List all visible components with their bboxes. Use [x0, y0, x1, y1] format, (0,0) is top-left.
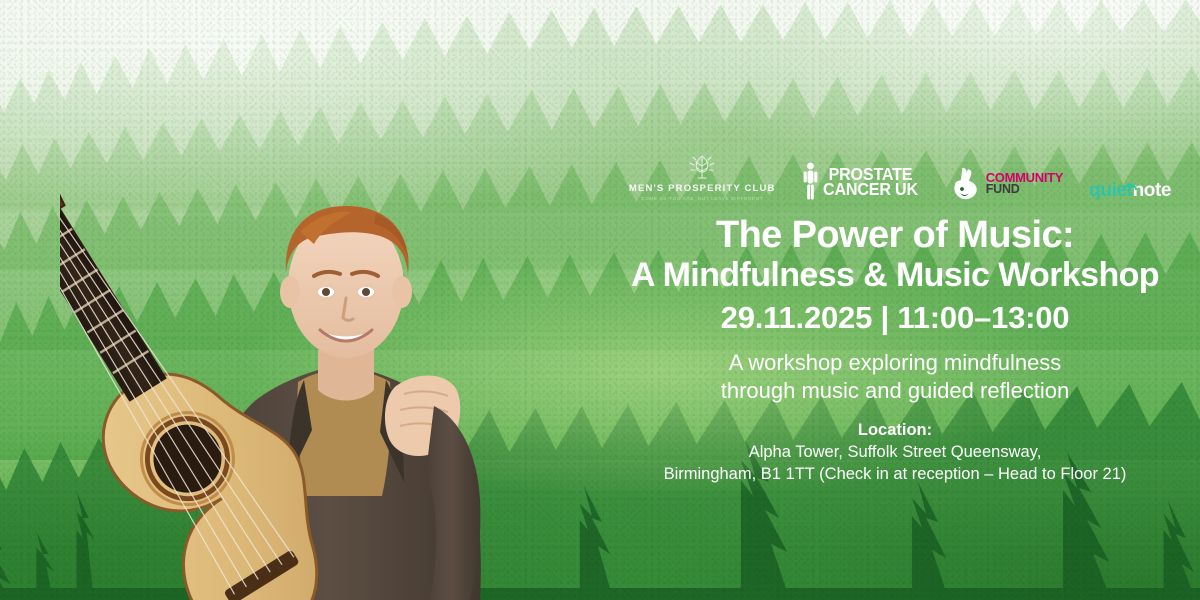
pcuk-line-2: CANCER UK — [823, 182, 918, 197]
event-datetime: 29.11.2025 | 11:00–13:00 — [590, 302, 1200, 335]
tree-crest-icon — [685, 152, 719, 182]
sponsor-logo-strip: MEN'S PROSPERITY CLUB COME AS YOU ARE, B… — [590, 140, 1200, 202]
logo-quietnote: quiet note — [1089, 180, 1171, 202]
event-title-line-1: The Power of Music: — [590, 216, 1200, 255]
logo-prostate-cancer-uk: PROSTATE CANCER UK — [802, 162, 926, 202]
event-description: A workshop exploring mindfulness through… — [590, 349, 1200, 404]
event-location: Location: Alpha Tower, Suffolk Street Qu… — [590, 420, 1200, 485]
location-label: Location: — [858, 421, 932, 439]
cf-fund-text: FUND — [986, 184, 1063, 196]
man-figure-icon — [802, 162, 819, 202]
pcuk-wordmark: PROSTATE CANCER UK — [823, 167, 918, 197]
crossed-fingers-hand-icon — [952, 166, 982, 202]
event-description-line-2: through music and guided reflection — [590, 377, 1200, 405]
event-description-line-1: A workshop exploring mindfulness — [590, 349, 1200, 377]
location-address-part-1: Alpha Tower, Suffolk Street Queensway, — [590, 442, 1200, 464]
logo-mens-prosperity-club: MEN'S PROSPERITY CLUB COME AS YOU ARE, B… — [629, 152, 776, 202]
event-info-panel: MEN'S PROSPERITY CLUB COME AS YOU ARE, B… — [590, 140, 1200, 486]
quietnote-note-text: note — [1133, 180, 1172, 202]
arc-accent-icon — [1123, 177, 1137, 185]
event-title: The Power of Music: A Mindfulness & Musi… — [590, 216, 1200, 292]
event-banner: MEN'S PROSPERITY CLUB COME AS YOU ARE, B… — [0, 0, 1200, 600]
event-location-line-2: Birmingham, B1 1TT (Check in at receptio… — [590, 464, 1200, 486]
mpc-name: MEN'S PROSPERITY CLUB — [629, 184, 776, 194]
event-title-line-2: A Mindfulness & Music Workshop — [590, 258, 1200, 293]
guitarist-photo — [60, 100, 620, 600]
community-fund-wordmark: COMMUNITY FUND — [986, 172, 1063, 195]
logo-community-fund: COMMUNITY FUND — [952, 166, 1063, 202]
event-location-line-1: Location: Alpha Tower, Suffolk Street Qu… — [590, 420, 1200, 464]
head-and-neck — [280, 206, 412, 401]
mpc-tagline: COME AS YOU ARE, BUT LEAVE DIFFERENT — [641, 197, 763, 202]
